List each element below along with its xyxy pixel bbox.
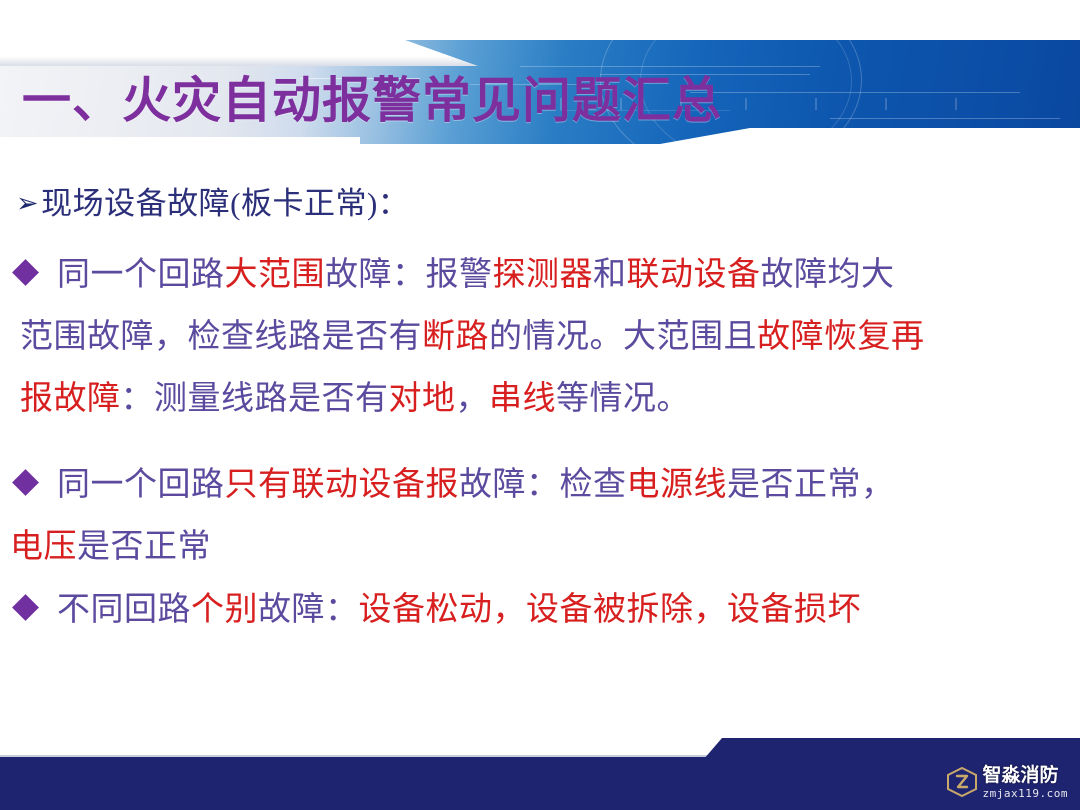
seg: 电压 (10, 529, 77, 565)
seg: 故障： (258, 592, 359, 628)
bullet-3-line-1: 不同回路个别故障：设备松动，设备被拆除，设备损坏 (0, 575, 1080, 637)
bullet-3-text-1: 不同回路个别故障：设备松动，设备被拆除，设备损坏 (57, 582, 861, 630)
seg: 同一个回路 (57, 467, 225, 503)
footer-bar-left (0, 757, 710, 810)
bullet-item-2: 同一个回路只有联动设备报故障：检查电源线是否正常， 电压是否正常 (0, 450, 1080, 574)
title-banner: 一、火灾自动报警常见问题汇总 (0, 40, 1080, 144)
seg: 对地 (389, 381, 456, 417)
seg: 范围故障，检查线路是否有 (20, 319, 422, 355)
bullet-1-text-2: 范围故障，检查线路是否有断路的情况。大范围且故障恢复再 (10, 309, 925, 357)
company-logo-icon (946, 766, 978, 798)
banner-tick-decoration (955, 98, 957, 110)
banner-tick-decoration (745, 98, 747, 110)
seg: 的情况。大范围且 (489, 319, 757, 355)
seg: 个别 (191, 592, 258, 628)
seg: 故障： (325, 257, 426, 293)
section-heading-label: 现场设备故障(板卡正常)： (41, 186, 409, 221)
seg: 和 (593, 257, 627, 293)
bullet-1-line-2: 范围故障，检查线路是否有断路的情况。大范围且故障恢复再 (0, 302, 1080, 364)
bullet-2-text-1: 同一个回路只有联动设备报故障：检查电源线是否正常， (57, 457, 895, 505)
seg: 串线 (489, 381, 556, 417)
seg: 故障恢复再 (757, 319, 925, 355)
bullet-2-line-2: 电压是否正常 (0, 512, 1080, 574)
bullet-2-line-1: 同一个回路只有联动设备报故障：检查电源线是否正常， (0, 450, 1080, 512)
seg: 电源线 (627, 467, 728, 503)
seg: 不同回路 (57, 592, 191, 628)
seg: 报警 (426, 257, 493, 293)
diamond-bullet-icon (12, 259, 39, 286)
diamond-bullet-icon (12, 594, 39, 621)
bullet-2-text-2: 电压是否正常 (10, 519, 211, 567)
seg: 故障均大 (761, 257, 895, 293)
bullet-item-1: 同一个回路大范围故障：报警探测器和联动设备故障均大 范围故障，检查线路是否有断路… (0, 240, 1080, 426)
bullet-1-line-3: 报故障：测量线路是否有对地，串线等情况。 (0, 364, 1080, 426)
watermark-text: 智淼消防 zmjax119.com (983, 766, 1068, 799)
bullet-item-3: 不同回路个别故障：设备松动，设备被拆除，设备损坏 (0, 575, 1080, 637)
seg: 等情况。 (556, 381, 690, 417)
seg: ， (456, 381, 490, 417)
seg: 联动设备 (627, 257, 761, 293)
banner-tick-decoration (885, 98, 887, 110)
seg: 大范围 (225, 257, 326, 293)
seg: 故障：检查 (459, 467, 627, 503)
seg: 报故障 (20, 381, 121, 417)
section-heading: ➢现场设备故障(板卡正常)： (16, 178, 409, 223)
seg: 断路 (422, 319, 489, 355)
seg: 是否正常， (727, 467, 895, 503)
banner-bottom-left-edge (0, 137, 360, 144)
banner-line-decoration (830, 118, 1060, 119)
page-title: 一、火灾自动报警常见问题汇总 (22, 54, 722, 138)
diamond-bullet-icon (12, 469, 39, 496)
watermark-url: zmjax119.com (983, 788, 1068, 799)
bullet-1-line-1: 同一个回路大范围故障：报警探测器和联动设备故障均大 (0, 240, 1080, 302)
seg: 是否正常 (77, 529, 211, 565)
arrow-bullet-icon: ➢ (16, 188, 39, 218)
seg: 设备松动，设备被拆除，设备损坏 (359, 592, 862, 628)
seg: ：测量线路是否有 (121, 381, 389, 417)
banner-tick-decoration (815, 98, 817, 110)
bullet-1-text-1: 同一个回路大范围故障：报警探测器和联动设备故障均大 (57, 247, 895, 295)
watermark: 智淼消防 zmjax119.com (946, 760, 1068, 804)
slide-root: 一、火灾自动报警常见问题汇总 ➢现场设备故障(板卡正常)： 同一个回路大范围故障… (0, 0, 1080, 810)
seg: 同一个回路 (57, 257, 225, 293)
watermark-company-name: 智淼消防 (983, 766, 1059, 785)
bullet-1-text-3: 报故障：测量线路是否有对地，串线等情况。 (10, 371, 690, 419)
seg: 只有联动设备报 (225, 467, 460, 503)
seg: 探测器 (493, 257, 594, 293)
banner-line-decoration (690, 92, 1020, 93)
